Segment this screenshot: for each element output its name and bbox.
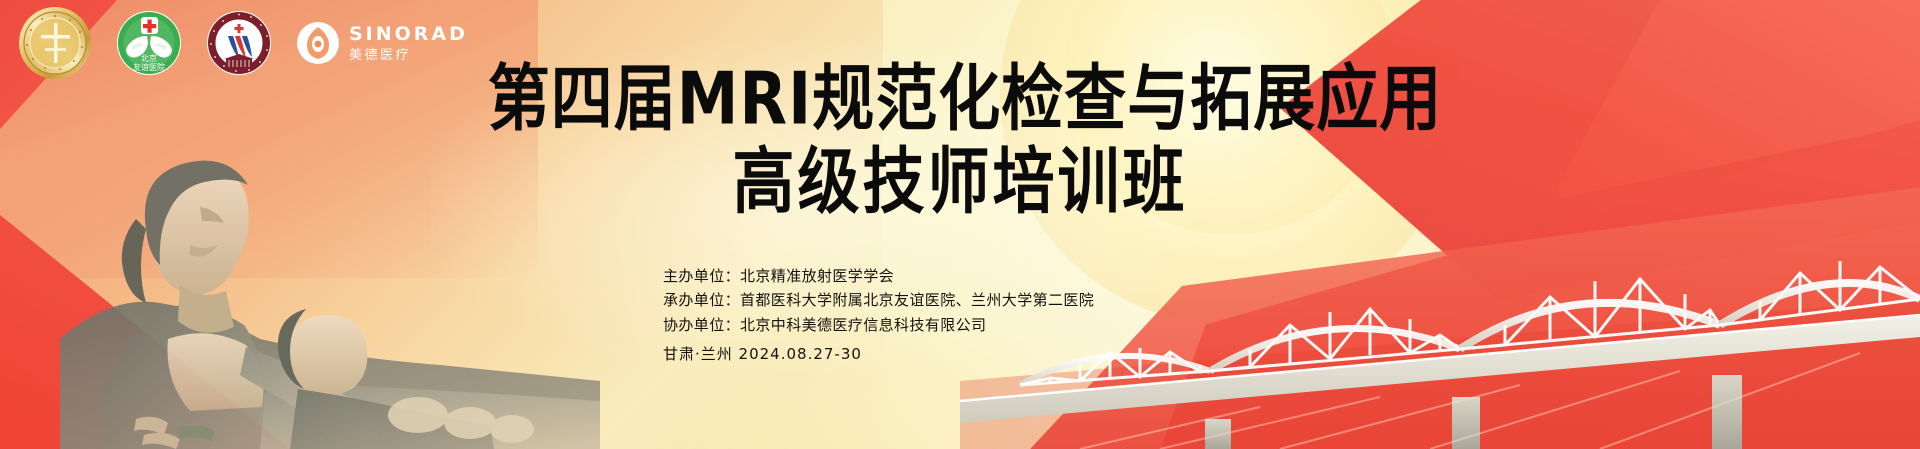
svg-text:北京: 北京 — [141, 53, 157, 63]
credit-coorganizer: 协办单位：北京中科美德医疗信息科技有限公司 — [663, 313, 1094, 337]
sinorad-cn-label: 美德医疗 — [349, 48, 468, 61]
zhongshan-bridge-illustration — [960, 149, 1920, 449]
lanzhou-university-second-hospital-logo — [206, 10, 272, 76]
credits-block: 主办单位：北京精准放射医学学会 承办单位：首都医科大学附属北京友谊医院、兰州大学… — [663, 264, 1094, 366]
credit-place-date: 甘肃·兰州 2024.08.27-30 — [663, 342, 1094, 366]
credit-undertaker: 承办单位：首都医科大学附属北京友谊医院、兰州大学第二医院 — [663, 288, 1094, 312]
gold-seal-logo — [18, 6, 92, 80]
sinorad-mark-icon — [296, 21, 340, 65]
logo-row: 北京 友谊医院 — [18, 6, 468, 80]
conference-banner: 北京 友谊医院 — [0, 0, 1920, 449]
svg-text:友谊医院: 友谊医院 — [133, 62, 165, 72]
sinorad-en-label: SINORAD — [349, 25, 468, 44]
sinorad-logo: SINORAD 美德医疗 — [296, 21, 468, 65]
beijing-friendship-hospital-logo: 北京 友谊医院 — [116, 10, 182, 76]
yellow-river-mother-sculpture-illustration — [40, 89, 600, 449]
credit-organizer: 主办单位：北京精准放射医学学会 — [663, 264, 1094, 288]
